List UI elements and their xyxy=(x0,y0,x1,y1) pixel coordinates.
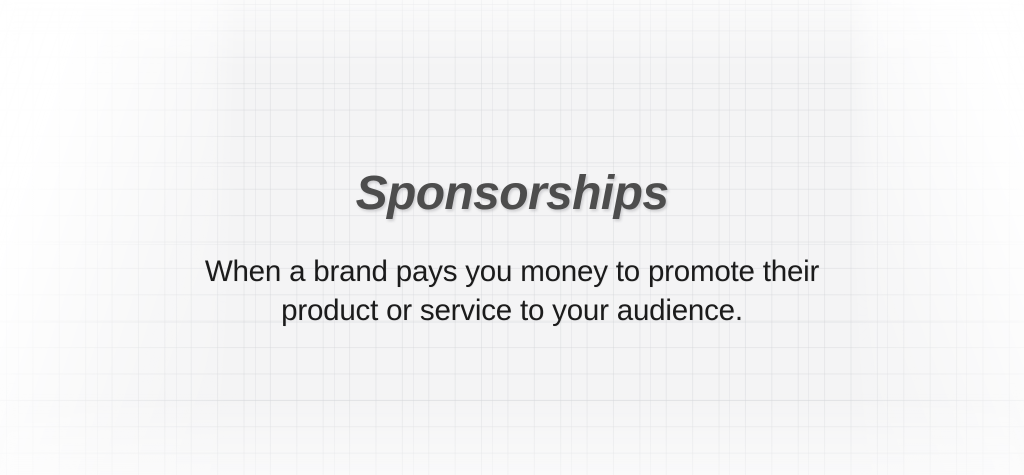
slide-subtitle: When a brand pays you money to promote t… xyxy=(162,252,862,330)
slide-content: Sponsorships When a brand pays you money… xyxy=(0,0,1024,475)
presentation-slide: Sponsorships When a brand pays you money… xyxy=(0,0,1024,475)
slide-title: Sponsorships xyxy=(356,170,669,218)
